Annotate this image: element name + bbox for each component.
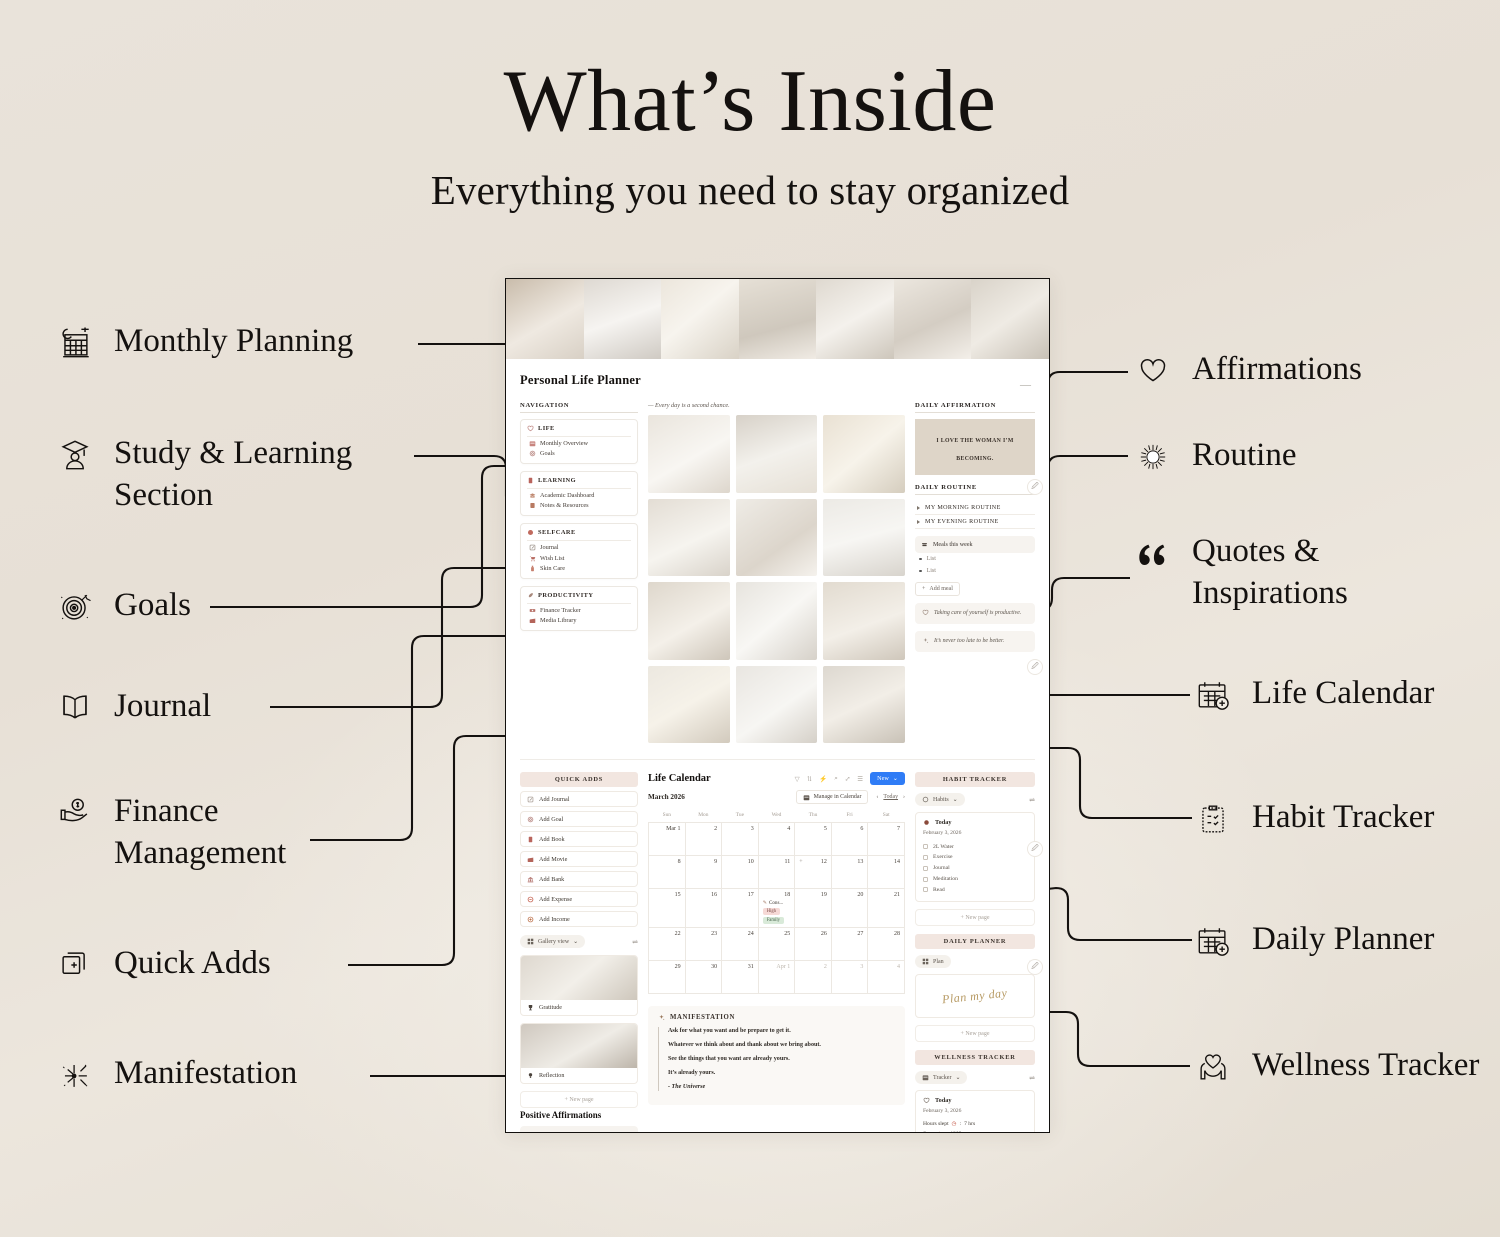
bullet-icon: [919, 558, 922, 561]
nav-group-selfcare[interactable]: SELFCARE Journal Wish List Skin Care: [520, 523, 638, 579]
quick-add-label: Add Journal: [539, 796, 569, 803]
nav-group-header: LIFE: [527, 425, 631, 437]
new-page-button[interactable]: + New page: [915, 1025, 1035, 1042]
day-number: 19: [821, 892, 827, 898]
meal-list-item[interactable]: List: [915, 565, 1035, 577]
gallery-photo[interactable]: [648, 415, 730, 493]
calendar-day[interactable]: +12: [795, 856, 832, 889]
calendar-day[interactable]: 28: [868, 928, 905, 961]
collapse-icon[interactable]: —: [1020, 379, 1031, 391]
feature-goals[interactable]: Goals: [52, 584, 191, 630]
wellness-metric-steps: Steps ➘ : 1209: [923, 1129, 1027, 1133]
nav-item-goals[interactable]: Goals: [527, 448, 631, 459]
sparkle-icon: [922, 637, 929, 644]
calendar-week-row: 22 23 24 25 26 27 28: [649, 928, 905, 961]
nav-item-media-library[interactable]: Media Library: [527, 615, 631, 626]
weekday-header: Thu: [795, 809, 832, 823]
nav-item-label: Monthly Overview: [540, 440, 588, 447]
calendar-day[interactable]: 30: [685, 961, 722, 994]
habit-label: Read: [933, 887, 945, 893]
heart-icon: [922, 609, 929, 616]
clipboard-check-icon: [1190, 796, 1236, 842]
card-image: [521, 1024, 637, 1068]
weekday-header: Tue: [722, 809, 759, 823]
manifestation-line: Ask for what you want and be prepare to …: [668, 1027, 895, 1036]
calendar-day[interactable]: 14: [868, 856, 905, 889]
feature-monthly-planning[interactable]: Monthly Planning: [52, 320, 353, 366]
quick-add-label: Add Goal: [539, 816, 563, 823]
side-comment-button[interactable]: 🖉: [1027, 959, 1043, 975]
routine-evening[interactable]: MY EVENING ROUTINE: [915, 515, 1035, 529]
calendar-grid[interactable]: Sun Mon Tue Wed Thu Fri Sat Mar 1 2: [648, 809, 905, 994]
calendar-day[interactable]: 24: [722, 928, 759, 961]
meal-item-label: List: [927, 568, 936, 574]
tracker-view-label: Tracker: [933, 1075, 951, 1081]
day-number: 10: [748, 859, 754, 865]
daily-affirmation-text: I LOVE THE WOMAN I’M BECOMING.: [936, 438, 1013, 462]
meals-label: Meals this week: [933, 542, 973, 548]
filter-sort-icon[interactable]: ⇌: [632, 938, 638, 946]
nav-group-label: LIFE: [538, 425, 555, 432]
side-comment-button[interactable]: 🖉: [1027, 841, 1043, 857]
habits-view-selector[interactable]: Habits ⌄: [915, 793, 965, 806]
habit-label: Meditation: [933, 876, 958, 882]
gallery-photo[interactable]: [736, 415, 818, 493]
gallery-photo[interactable]: [736, 499, 818, 577]
meal-list-item[interactable]: List: [915, 553, 1035, 565]
day-number: 2: [714, 826, 717, 832]
weekday-header: Mon: [685, 809, 722, 823]
sparkle-burst-icon: [658, 1014, 665, 1021]
habit-date: February 3, 2026: [923, 830, 1027, 836]
chevron-down-icon: ⌄: [955, 1074, 960, 1081]
target-icon: [527, 816, 534, 823]
feature-label: Quotes & Inspirations: [1192, 530, 1348, 614]
calendar-day[interactable]: 4: [868, 961, 905, 994]
nav-group-label: LEARNING: [538, 477, 576, 484]
clapper-icon: [529, 617, 536, 624]
calendar-day[interactable]: 2: [685, 823, 722, 856]
calendar-day[interactable]: 26: [795, 928, 832, 961]
habit-item[interactable]: Exercise: [923, 852, 1027, 863]
feature-label: Affirmations: [1192, 348, 1362, 390]
expand-icon[interactable]: ⤢: [845, 775, 850, 783]
nav-item-skin-care[interactable]: Skin Care: [527, 563, 631, 574]
nav-item-label: Notes & Resources: [540, 502, 589, 509]
calendar-day[interactable]: 10: [722, 856, 759, 889]
manage-in-calendar-button[interactable]: Manage in Calendar: [796, 790, 869, 804]
calendar-plus-icon: [1190, 672, 1236, 718]
calendar-day[interactable]: 18 ✎ Cons... High Family: [758, 889, 795, 928]
comment-icon: 🖉: [1031, 662, 1038, 673]
feature-quick-adds[interactable]: Quick Adds: [52, 942, 271, 988]
hero-header: What’s Inside Everything you need to sta…: [0, 58, 1500, 214]
calendar-icon: [803, 794, 810, 801]
feature-label: Quick Adds: [114, 942, 271, 984]
grid-icon: [527, 938, 534, 945]
wellness-date: February 3, 2026: [923, 1108, 1027, 1114]
day-number: 4: [787, 826, 790, 832]
calendar-day[interactable]: 7: [868, 823, 905, 856]
plan-my-day-text: Plan my day: [942, 985, 1009, 1007]
habit-today-label: Today: [935, 819, 952, 826]
calendar-day[interactable]: 5: [795, 823, 832, 856]
calendar-day[interactable]: 16: [685, 889, 722, 928]
feature-daily-planner[interactable]: Daily Planner: [1190, 918, 1434, 964]
habit-item[interactable]: Meditation: [923, 874, 1027, 885]
quote-card[interactable]: It’s never too late to be better.: [915, 631, 1035, 652]
gallery-photo[interactable]: [648, 666, 730, 744]
chevron-left-icon[interactable]: ‹: [876, 794, 878, 800]
feature-quotes-inspirations[interactable]: Quotes & Inspirations: [1130, 530, 1348, 614]
gallery-card-gratitude[interactable]: Gratitude: [520, 955, 638, 1016]
navigation-column: NAVIGATION LIFE Monthly Overview Goals: [520, 402, 638, 743]
card-caption-row: Gratitude: [521, 1000, 637, 1015]
feature-habit-tracker[interactable]: Habit Tracker: [1190, 796, 1434, 842]
nav-group-header: LEARNING: [527, 477, 631, 489]
calendar-day[interactable]: 6: [831, 823, 868, 856]
metric-separator: :: [960, 1121, 962, 1127]
calendar-title: Life Calendar: [648, 773, 711, 784]
feature-journal[interactable]: Journal: [52, 685, 211, 731]
cover-photo: [816, 279, 894, 359]
sun-icon: [1130, 434, 1176, 480]
calendar-day[interactable]: 22: [649, 928, 686, 961]
day-number: 6: [860, 826, 863, 832]
affirmation-text: I choose to always focus on the good in …: [539, 1132, 631, 1133]
habits-view-label: Habits: [933, 797, 949, 803]
habit-today-card[interactable]: Today February 3, 2026 2L Water Exercise…: [915, 812, 1035, 902]
feature-label: Study & Learning Section: [114, 432, 352, 516]
nav-item-label: Finance Tracker: [540, 607, 581, 614]
new-button-label: New: [877, 775, 889, 782]
quote-card[interactable]: Taking care of yourself is productive.: [915, 603, 1035, 624]
day-number: 28: [894, 931, 900, 937]
quick-add-income[interactable]: Add Income: [520, 911, 638, 927]
calendar-day[interactable]: 15: [649, 889, 686, 928]
habit-label: 2L Water: [933, 844, 954, 850]
feature-manifestation[interactable]: Manifestation: [52, 1052, 297, 1098]
habit-item[interactable]: Read: [923, 884, 1027, 895]
search-icon[interactable]: ⌕: [834, 775, 838, 783]
day-number: 30: [711, 964, 717, 970]
calendar-week-row: 8 9 10 11 +12 13 14: [649, 856, 905, 889]
side-comment-button[interactable]: 🖉: [1027, 659, 1043, 675]
nav-item-wish-list[interactable]: Wish List: [527, 552, 631, 563]
manifestation-body: Ask for what you want and be prepare to …: [658, 1027, 895, 1092]
planner-title: Personal Life Planner: [520, 373, 1035, 388]
calendar-week-row: 29 30 31 Apr 1 2 3 4: [649, 961, 905, 994]
calendar-day[interactable]: 3: [831, 961, 868, 994]
gallery-card-reflection[interactable]: Reflection: [520, 1023, 638, 1084]
calendar-day[interactable]: 13: [831, 856, 868, 889]
quick-add-book[interactable]: Add Book: [520, 831, 638, 847]
add-event-icon[interactable]: +: [799, 859, 802, 865]
habit-label: Exercise: [933, 854, 953, 860]
quick-add-bank[interactable]: Add Bank: [520, 871, 638, 887]
gallery-photo[interactable]: [736, 582, 818, 660]
day-number: Apr 1: [776, 964, 790, 970]
quick-add-label: Add Book: [539, 836, 565, 843]
gallery-photo[interactable]: [736, 666, 818, 744]
calendar-day[interactable]: Apr 1: [758, 961, 795, 994]
day-number: 22: [675, 931, 681, 937]
feature-label: Wellness Tracker: [1252, 1044, 1479, 1086]
gallery-photo[interactable]: [823, 582, 905, 660]
weekday-header: Sat: [868, 809, 905, 823]
gallery-photo[interactable]: [823, 415, 905, 493]
gallery-photo[interactable]: [648, 582, 730, 660]
metric-label: Hours slept: [923, 1121, 949, 1127]
filter-sort-icon[interactable]: ⇌: [1029, 796, 1035, 804]
school-icon: [529, 492, 536, 499]
calendar-toolbar: ▽ ⇅ ⚡ ⌕ ⤢ ☰ New ⌄: [795, 772, 905, 785]
side-comment-button[interactable]: 🖉: [1027, 479, 1043, 495]
calendar-weekday-row: Sun Mon Tue Wed Thu Fri Sat: [649, 809, 905, 823]
chevron-down-icon: ⌄: [893, 775, 898, 782]
gallery-view-selector[interactable]: Gallery view ⌄: [520, 935, 585, 948]
metric-value: 1209: [950, 1131, 961, 1133]
routine-morning[interactable]: MY MORNING ROUTINE: [915, 501, 1035, 515]
meals-this-week[interactable]: Meals this week: [915, 536, 1035, 553]
checkbox[interactable]: [923, 866, 928, 871]
habit-item[interactable]: Journal: [923, 863, 1027, 874]
day-number: 9: [714, 859, 717, 865]
lightning-icon[interactable]: ⚡: [819, 775, 827, 783]
cover-image-strip: [506, 279, 1049, 359]
weekday-header: Sun: [649, 809, 686, 823]
calendar-day[interactable]: Mar 1: [649, 823, 686, 856]
calendar-day[interactable]: 31: [722, 961, 759, 994]
metric-separator: :: [946, 1131, 948, 1133]
cover-photo: [661, 279, 739, 359]
day-number: 5: [824, 826, 827, 832]
day-number: 16: [711, 892, 717, 898]
nav-group-life[interactable]: LIFE Monthly Overview Goals: [520, 419, 638, 464]
cover-photo: [971, 279, 1049, 359]
nav-item-finance-tracker[interactable]: Finance Tracker: [527, 604, 631, 615]
target-icon: [52, 584, 98, 630]
quick-add-goal[interactable]: Add Goal: [520, 811, 638, 827]
filter-sort-icon[interactable]: ⇌: [1029, 1074, 1035, 1082]
day-number: 31: [748, 964, 754, 970]
checkbox[interactable]: [923, 887, 928, 892]
weekday-header: Fri: [831, 809, 868, 823]
feature-life-calendar[interactable]: Life Calendar: [1190, 672, 1434, 718]
nav-item-label: Media Library: [540, 617, 577, 624]
feature-routine[interactable]: Routine: [1130, 434, 1297, 480]
wellness-today-label: Today: [935, 1097, 952, 1104]
trophy-icon: [527, 1004, 534, 1011]
calendar-day[interactable]: 20: [831, 889, 868, 928]
cover-photo: [739, 279, 817, 359]
calendar-day[interactable]: 23: [685, 928, 722, 961]
feature-finance-management[interactable]: Finance Management: [52, 790, 286, 874]
money-icon: [529, 607, 536, 614]
day-number: 24: [748, 931, 754, 937]
nav-group-productivity[interactable]: PRODUCTIVITY Finance Tracker Media Libra…: [520, 586, 638, 631]
add-meal-button[interactable]: + Add meal: [915, 582, 960, 596]
today-label: Today: [883, 794, 898, 800]
calendar-day[interactable]: 9: [685, 856, 722, 889]
chevron-right-icon: [917, 520, 920, 524]
nav-item-notes-resources[interactable]: Notes & Resources: [527, 500, 631, 511]
daily-routine-heading: DAILY ROUTINE: [915, 484, 1035, 495]
calendar-day[interactable]: 8: [649, 856, 686, 889]
chevron-down-icon: ⌄: [573, 938, 578, 945]
quick-add-expense[interactable]: Add Expense: [520, 891, 638, 907]
day-number: 26: [821, 931, 827, 937]
cart-icon: [529, 555, 536, 562]
calendar-day[interactable]: 4: [758, 823, 795, 856]
new-page-button[interactable]: + New page: [520, 1091, 638, 1108]
weekday-header: Wed: [758, 809, 795, 823]
photo-grid: [648, 415, 905, 743]
checkbox[interactable]: [923, 844, 928, 849]
feature-affirmations[interactable]: Affirmations: [1130, 348, 1362, 394]
quote-text: It’s never too late to be better.: [934, 637, 1004, 646]
quick-add-journal[interactable]: Add Journal: [520, 791, 638, 807]
plan-my-day-card[interactable]: Plan my day: [915, 974, 1035, 1018]
tracker-view-selector[interactable]: Tracker ⌄: [915, 1071, 967, 1084]
plan-view-selector[interactable]: Plan: [915, 955, 951, 968]
plan-view-label: Plan: [933, 959, 944, 965]
day-number: 13: [857, 859, 863, 865]
day-number: 25: [784, 931, 790, 937]
calendar-week-row: 15 16 17 18 ✎ Cons... High Family: [649, 889, 905, 928]
habit-today-header: Today: [923, 819, 1027, 826]
comment-icon: 🖉: [1031, 482, 1038, 493]
feature-study-learning[interactable]: Study & Learning Section: [52, 432, 352, 516]
page-subtitle: Everything you need to stay organized: [0, 166, 1500, 214]
calendar-day[interactable]: 17: [722, 889, 759, 928]
calendar-day[interactable]: 3: [722, 823, 759, 856]
card-image: [521, 956, 637, 1000]
plus-icon: +: [922, 586, 925, 592]
quick-add-label: Add Income: [539, 916, 570, 923]
calendar-subheader: March 2026 Manage in Calendar ‹ Today ›: [648, 790, 905, 804]
nav-item-label: Skin Care: [540, 565, 565, 572]
calendar-day[interactable]: 27: [831, 928, 868, 961]
nav-item-journal[interactable]: Journal: [527, 541, 631, 552]
feature-label: Finance Management: [114, 790, 286, 874]
meal-item-label: List: [927, 556, 936, 562]
lightbulb-icon: [527, 1072, 534, 1079]
day-number: 8: [678, 859, 681, 865]
routine-label: MY EVENING ROUTINE: [925, 519, 999, 525]
new-page-button[interactable]: + New page: [915, 909, 1035, 926]
graduation-cap-icon: [52, 432, 98, 478]
feature-label: Daily Planner: [1252, 918, 1434, 960]
day-number: 4: [897, 964, 900, 970]
today-nav[interactable]: ‹ Today ›: [876, 794, 905, 800]
metric-value: 7 hrs: [964, 1121, 975, 1127]
calendar-week-row: Mar 1 2 3 4 5 6 7: [649, 823, 905, 856]
calendar-day[interactable]: 19: [795, 889, 832, 928]
chevron-down-icon: ⌄: [953, 796, 958, 803]
calendar-icon: [529, 440, 536, 447]
calendar-day[interactable]: 21: [868, 889, 905, 928]
day-number: 23: [711, 931, 717, 937]
medal-icon: [527, 1132, 534, 1133]
chevron-right-icon[interactable]: ›: [903, 794, 905, 800]
wellness-today-card[interactable]: Today February 3, 2026 Hours slept ◷ : 7…: [915, 1090, 1035, 1133]
cover-photo: [584, 279, 662, 359]
day-number: 21: [894, 892, 900, 898]
event-tag-priority: High: [763, 908, 780, 915]
nav-group-learning[interactable]: LEARNING Academic Dashboard Notes & Reso…: [520, 471, 638, 516]
chevron-right-icon: [917, 506, 920, 510]
open-book-icon: [52, 685, 98, 731]
calendar-month: March 2026: [648, 793, 685, 801]
gallery-view-label: Gallery view: [538, 939, 569, 945]
book-icon: [527, 836, 534, 843]
trackers-column: HABIT TRACKER Habits ⌄ ⇌ Today February …: [915, 772, 1035, 1133]
calendar-day[interactable]: 11: [758, 856, 795, 889]
manifestation-line: Whatever we think about and thank about …: [668, 1041, 895, 1050]
day-number: 7: [897, 826, 900, 832]
nav-item-academic-dashboard[interactable]: Academic Dashboard: [527, 489, 631, 500]
checkbox[interactable]: [923, 855, 928, 860]
manifestation-block: MANIFESTATION Ask for what you want and …: [648, 1006, 905, 1105]
day-number: 15: [675, 892, 681, 898]
plus-circle-icon: [527, 916, 534, 923]
quick-add-label: Add Expense: [539, 896, 572, 903]
feature-wellness-tracker[interactable]: Wellness Tracker: [1190, 1044, 1479, 1090]
circle-icon: [922, 796, 929, 803]
comment-icon: 🖉: [1031, 962, 1038, 973]
calendar-day[interactable]: 2: [795, 961, 832, 994]
calendar-day[interactable]: 25: [758, 928, 795, 961]
filled-circle-icon: [923, 819, 930, 826]
feature-label: Goals: [114, 584, 191, 626]
comment-icon: 🖉: [1031, 844, 1038, 855]
habit-item[interactable]: 2L Water: [923, 841, 1027, 852]
calendar-day[interactable]: 29: [649, 961, 686, 994]
shoe-icon: ➘: [938, 1131, 943, 1133]
quick-adds-column: QUICK ADDS Add Journal Add Goal Add Book…: [520, 772, 638, 1133]
new-button[interactable]: New ⌄: [870, 772, 905, 785]
grid-icon: [922, 958, 929, 965]
day-number: 20: [857, 892, 863, 898]
nav-item-monthly-overview[interactable]: Monthly Overview: [527, 437, 631, 448]
planner-window[interactable]: Personal Life Planner — NAVIGATION LIFE …: [505, 278, 1050, 1133]
gallery-photo[interactable]: [648, 499, 730, 577]
card-caption-row: Reflection: [521, 1068, 637, 1083]
filter-icon[interactable]: ▽: [795, 775, 800, 783]
event-tag-category: Family: [763, 917, 784, 924]
wellness-tracker-heading: WELLNESS TRACKER: [915, 1050, 1035, 1065]
nav-group-label: SELFCARE: [538, 529, 576, 536]
bank-icon: [527, 876, 534, 883]
gallery-photo[interactable]: [823, 666, 905, 744]
quick-add-movie[interactable]: Add Movie: [520, 851, 638, 867]
day-number: 17: [748, 892, 754, 898]
menu-icon[interactable]: ☰: [857, 775, 863, 783]
nav-item-label: Academic Dashboard: [540, 492, 594, 499]
daily-affirmation-box: I LOVE THE WOMAN I’M BECOMING.: [915, 419, 1035, 475]
sort-icon[interactable]: ⇅: [807, 775, 812, 783]
day-number: 18: [784, 892, 790, 898]
notebook-icon: [529, 502, 536, 509]
gallery-quote: — Every day is a second chance.: [648, 402, 905, 409]
manifestation-source: - The Universe: [668, 1083, 895, 1092]
nav-item-label: Journal: [540, 544, 559, 551]
gallery-photo[interactable]: [823, 499, 905, 577]
checkbox[interactable]: [923, 877, 928, 882]
day-number: 27: [857, 931, 863, 937]
affirmation-card[interactable]: I choose to always focus on the good in …: [520, 1126, 638, 1133]
